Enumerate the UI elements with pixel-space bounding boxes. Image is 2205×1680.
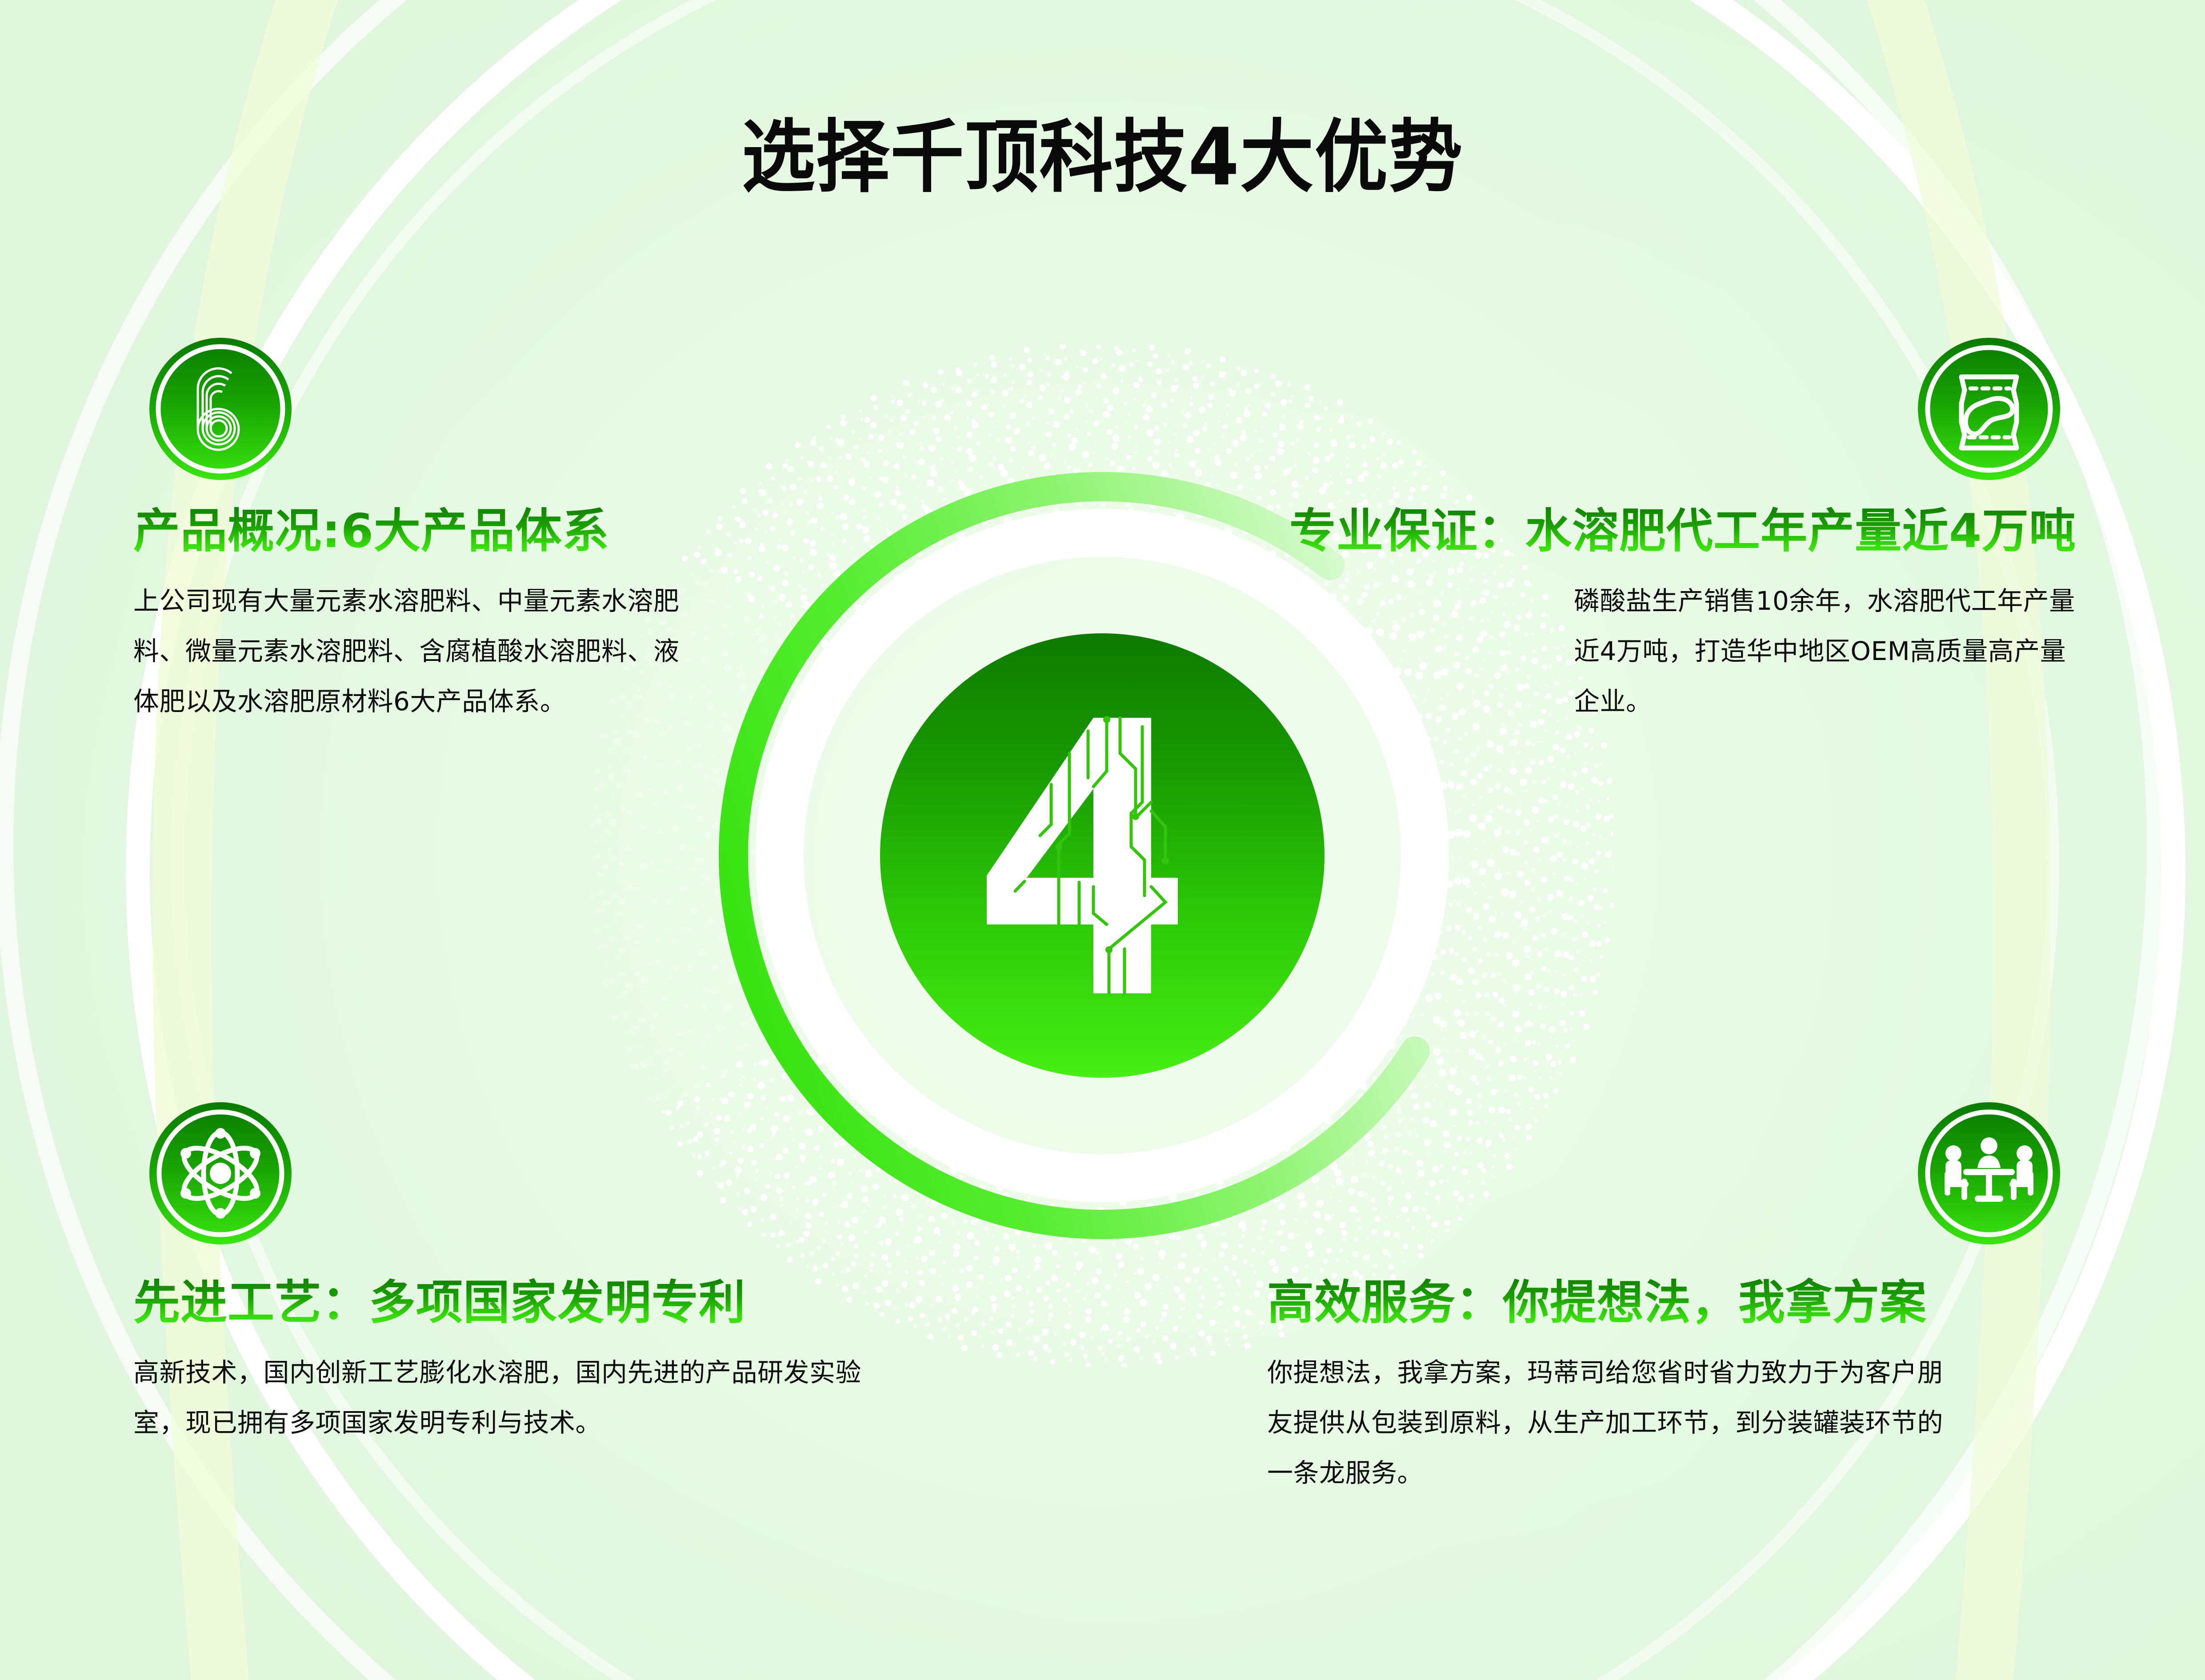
- advantage-heading: 专业保证：水溶肥代工年产量近4万吨: [1165, 504, 2076, 559]
- page-title: 选择千顶科技4大优势: [77, 93, 2128, 208]
- infographic-canvas: 选择千顶科技4大优势: [0, 0, 2205, 1680]
- advantage-card-efficient-service: 高效服务：你提想法，我拿方案 你提想法，我拿方案，玛蒂司给您省时省力致力于为客户…: [1267, 1102, 2076, 1498]
- advantage-heading: 高效服务：你提想法，我拿方案: [1267, 1276, 2076, 1331]
- atom-icon: [149, 1102, 292, 1244]
- advantage-card-professional-guarantee: 专业保证：水溶肥代工年产量近4万吨 磷酸盐生产销售10余年，水溶肥代工年产量近4…: [1165, 338, 2076, 727]
- advantage-body: 磷酸盐生产销售10余年，水溶肥代工年产量近4万吨，打造华中地区OEM高质量高产量…: [1574, 576, 2076, 727]
- circuit-four-icon: [960, 700, 1245, 1011]
- number-six-rings-icon: [149, 338, 292, 480]
- advantage-card-advanced-process: 先进工艺：多项国家发明专利 高新技术，国内创新工艺膨化水溶肥，国内先进的产品研发…: [133, 1102, 933, 1448]
- advantage-heading: 先进工艺：多项国家发明专利: [133, 1276, 933, 1331]
- fertilizer-bag-icon: [1918, 338, 2060, 480]
- advantage-body: 上公司现有大量元素水溶肥料、中量元素水溶肥料、微量元素水溶肥料、含腐植酸水溶肥料…: [133, 576, 689, 727]
- advantage-card-product-overview: 产品概况:6大产品体系 上公司现有大量元素水溶肥料、中量元素水溶肥料、微量元素水…: [133, 338, 711, 727]
- advantage-heading: 产品概况:6大产品体系: [133, 504, 711, 559]
- advantage-body: 高新技术，国内创新工艺膨化水溶肥，国内先进的产品研发实验室，现已拥有多项国家发明…: [133, 1348, 880, 1448]
- meeting-table-icon: [1918, 1102, 2060, 1244]
- advantage-body: 你提想法，我拿方案，玛蒂司给您省时省力致力于为客户朋友提供从包装到原料，从生产加…: [1267, 1348, 1961, 1498]
